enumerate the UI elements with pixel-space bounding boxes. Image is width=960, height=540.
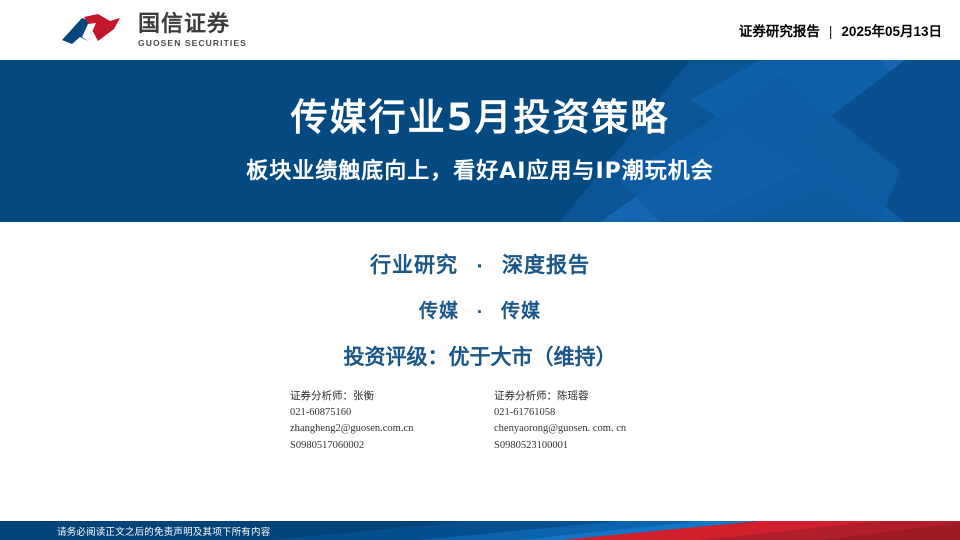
analyst-block: 证券分析师：张衡 021-60875160 zhangheng2@guosen.… — [0, 388, 960, 454]
brand-logo: 国信证券 GUOSEN SECURITIES — [58, 10, 247, 50]
analyst-email[interactable]: zhangheng2@guosen.com.cn — [290, 421, 466, 438]
meta-dot-icon-2: · — [477, 303, 484, 321]
brand-name-cn: 国信证券 — [138, 12, 247, 35]
analyst-name: 证券分析师：陈瑶蓉 — [494, 388, 670, 405]
page-footer: 请务必阅读正文之后的免责声明及其项下所有内容 — [0, 521, 960, 540]
analyst-email[interactable]: chenyaorong@guosen. com. cn — [494, 421, 670, 438]
footer-disclaimer: 请务必阅读正文之后的免责声明及其项下所有内容 — [57, 521, 270, 540]
page-header: 国信证券 GUOSEN SECURITIES 证券研究报告 | 2025年05月… — [0, 0, 960, 60]
analyst-phone: 021-60875160 — [290, 405, 466, 422]
brand-logo-text: 国信证券 GUOSEN SECURITIES — [138, 12, 247, 47]
meta-dot-icon: · — [476, 256, 483, 276]
research-category-line: 行业研究 · 深度报告 — [370, 249, 590, 279]
investment-rating: 投资评级：优于大市（维持） — [344, 341, 617, 371]
report-subtitle: 板块业绩触底向上，看好AI应用与IP潮玩机会 — [246, 159, 714, 185]
analyst-name: 证券分析师：张衡 — [290, 388, 466, 405]
header-separator: | — [829, 24, 833, 39]
banner-text-block: 传媒行业5月投资策略 板块业绩触底向上，看好AI应用与IP潮玩机会 — [0, 60, 960, 222]
title-banner: 传媒行业5月投资策略 板块业绩触底向上，看好AI应用与IP潮玩机会 — [0, 60, 960, 222]
report-date: 2025年05月13日 — [841, 20, 942, 40]
sub-industry-name: 传媒 — [501, 300, 541, 322]
industry-name: 传媒 — [419, 300, 459, 322]
report-type-label: 证券研究报告 — [739, 20, 820, 40]
header-report-meta: 证券研究报告 | 2025年05月13日 — [739, 20, 942, 40]
analyst-card: 证券分析师：张衡 021-60875160 zhangheng2@guosen.… — [290, 388, 466, 454]
report-meta-block: 行业研究 · 深度报告 传媒 · 传媒 投资评级：优于大市（维持） — [0, 222, 960, 371]
analyst-license: S0980523100001 — [494, 438, 670, 455]
analyst-phone: 021-61761058 — [494, 405, 670, 422]
brand-name-en: GUOSEN SECURITIES — [138, 38, 247, 48]
report-title: 传媒行业5月投资策略 — [291, 97, 670, 140]
report-depth: 深度报告 — [502, 253, 590, 277]
guosen-logo-mark-icon — [58, 10, 132, 50]
research-type: 行业研究 — [370, 253, 458, 277]
analyst-license: S0980517060002 — [290, 438, 466, 455]
industry-line: 传媒 · 传媒 — [419, 296, 541, 323]
analyst-card: 证券分析师：陈瑶蓉 021-61761058 chenyaorong@guose… — [494, 388, 670, 454]
